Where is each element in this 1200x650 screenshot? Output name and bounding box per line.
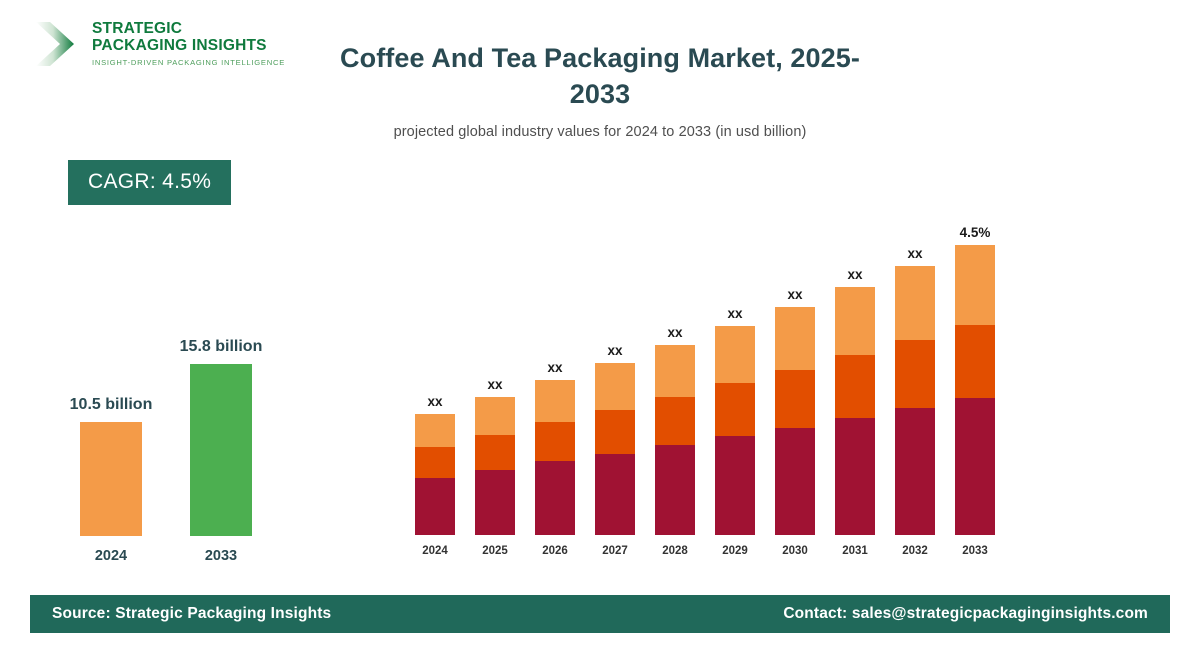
stacked-bar-segment [715,326,755,383]
footer-bar: Source: Strategic Packaging Insights Con… [30,595,1170,633]
stacked-bar-segment [955,325,995,399]
stacked-bar-segment [535,461,575,535]
stacked-bar-segment [655,445,695,535]
stacked-bar-segment [535,422,575,461]
stacked-bar-value-label: xx [450,377,540,392]
axis-year-label: 2028 [655,545,695,557]
stacked-bar-segment [895,340,935,408]
stacked-bar-segment [775,307,815,370]
brand-name-line2: PACKAGING INSIGHTS [92,37,285,54]
brand-logo: STRATEGIC PACKAGING INSIGHTS INSIGHT-DRI… [30,16,290,78]
axis-year-label: 2031 [835,545,875,557]
stacked-bar-group: xx2031 [835,225,875,560]
stacked-bar [955,245,995,535]
page-title: Coffee And Tea Packaging Market, 2025-20… [330,40,870,112]
mini-bar [80,422,142,536]
stacked-bar-segment [415,478,455,535]
stacked-bar-segment [535,380,575,422]
stacked-bar [715,326,755,535]
title-block: Coffee And Tea Packaging Market, 2025-20… [330,40,870,140]
stacked-bar-segment [775,428,815,535]
stacked-bar-segment [835,355,875,418]
stacked-bar-segment [835,418,875,535]
stacked-bar-segment [955,398,995,535]
stacked-bar-segment [595,363,635,411]
stacked-bar-segment [415,414,455,448]
axis-year-label: 2026 [535,545,575,557]
stacked-bar-value-label: xx [510,360,600,375]
stacked-bar-segment [595,454,635,535]
stacked-bar [775,307,815,535]
stacked-bar-group: xx2026 [535,225,575,560]
stacked-bar-group: xx2027 [595,225,635,560]
mini-bar-value-label: 15.8 billion [131,338,311,356]
mini-bar-group: 15.8 billion [190,354,252,536]
axis-year-label: 2033 [955,545,995,557]
footer-source: Source: Strategic Packaging Insights [52,605,331,623]
mini-axis-year-label: 2033 [190,548,252,564]
stacked-bar-value-label: xx [750,287,840,302]
axis-year-label: 2027 [595,545,635,557]
stacked-bar-value-label: 4.5% [930,225,1020,240]
mini-axis-year-label: 2024 [80,548,142,564]
stacked-bar-value-label: xx [870,246,960,261]
axis-year-label: 2025 [475,545,515,557]
yearly-stacked-forecast-chart: xx2024xx2025xx2026xx2027xx2028xx2029xx20… [400,200,1020,560]
stacked-bar-group: xx2028 [655,225,695,560]
stacked-bar-segment [715,436,755,535]
mini-bar [190,364,252,536]
stacked-bar-segment [595,410,635,453]
stacked-bar-group: 4.5%2033 [955,225,995,560]
brand-tagline: INSIGHT-DRIVEN PACKAGING INTELLIGENCE [92,58,285,67]
axis-year-label: 2030 [775,545,815,557]
stacked-bar-value-label: xx [690,306,780,321]
mini-bar-group: 10.5 billion [80,412,142,536]
stacked-bar-value-label: xx [570,343,660,358]
stacked-bar-segment [475,397,515,435]
chevron-right-icon [30,18,82,70]
stacked-bar-segment [895,408,935,535]
stacked-bar-segment [475,435,515,470]
stacked-bar [535,380,575,535]
axis-year-label: 2024 [415,545,455,557]
stacked-bar-group: xx2029 [715,225,755,560]
stacked-bar [895,266,935,535]
page-subtitle: projected global industry values for 202… [330,124,870,140]
stacked-bar [655,345,695,535]
stacked-bar-group: xx2024 [415,225,455,560]
stacked-bar-segment [895,266,935,340]
stacked-bar-group: xx2032 [895,225,935,560]
axis-year-label: 2029 [715,545,755,557]
stacked-bar-segment [835,287,875,355]
stacked-bar [475,397,515,535]
stacked-bar-value-label: xx [630,325,720,340]
stacked-bar-segment [415,447,455,477]
stacked-bar-segment [955,245,995,325]
stacked-bar-value-label: xx [390,394,480,409]
brand-wordmark: STRATEGIC PACKAGING INSIGHTS INSIGHT-DRI… [92,20,285,67]
stacked-bar-segment [655,397,695,445]
cagr-badge: CAGR: 4.5% [68,160,231,205]
stacked-bar-group: xx2025 [475,225,515,560]
stacked-bar-segment [655,345,695,397]
brand-name-line1: STRATEGIC [92,20,285,37]
stacked-bar [595,363,635,535]
stacked-bar-segment [775,370,815,427]
stacked-bar-group: xx2030 [775,225,815,560]
stacked-bar-segment [715,383,755,436]
footer-contact: Contact: sales@strategicpackaginginsight… [783,605,1148,623]
axis-year-label: 2032 [895,545,935,557]
endpoint-comparison-chart: 10.5 billion202415.8 billion2033 [60,300,290,570]
stacked-bar [835,287,875,535]
stacked-bar-segment [475,470,515,535]
stacked-bar [415,414,455,535]
stacked-bar-value-label: xx [810,267,900,282]
mini-bar-value-label: 10.5 billion [21,396,201,414]
